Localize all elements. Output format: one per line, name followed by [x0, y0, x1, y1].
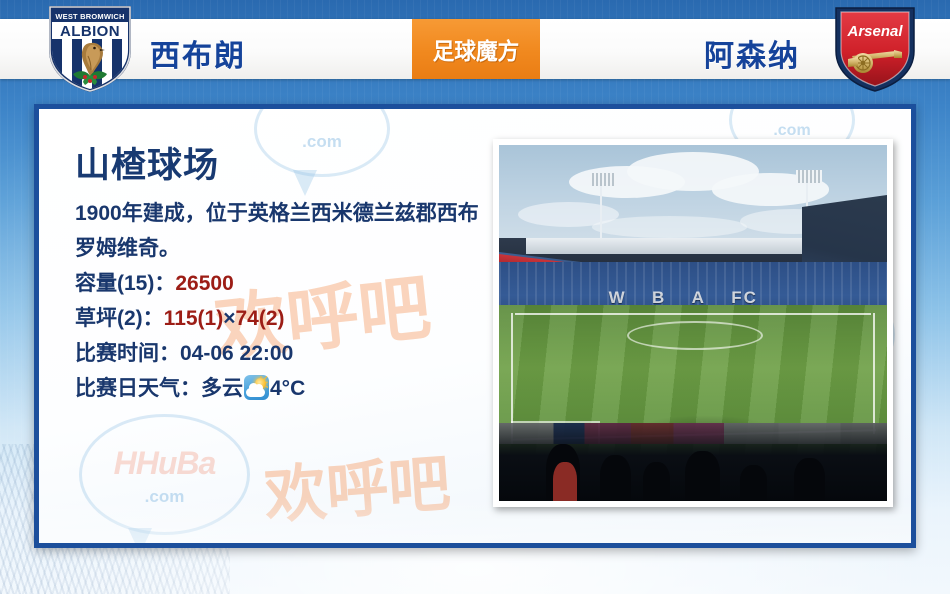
svg-text:WEST BROMWICH: WEST BROMWICH	[55, 12, 124, 21]
away-team-crest-icon: Arsenal	[832, 4, 918, 92]
stadium-info-panel: .com .com Huan HuBa HHuBa .com 欢呼吧 欢呼吧 山…	[34, 104, 916, 548]
spectator-silhouette	[553, 462, 576, 501]
watermark-dotcom-3: .com	[82, 487, 247, 507]
match-info-banner: 西布朗 足球魔方 阿森纳 WEST BROM	[0, 0, 950, 594]
weather-condition: 多云	[201, 377, 243, 400]
site-logo-text: 足球魔方	[433, 32, 519, 66]
photo-stand-roof	[526, 238, 821, 254]
match-time-value: 04-06 22:00	[180, 342, 293, 365]
home-team-name: 西布朗	[150, 31, 246, 75]
stadium-title: 山楂球场	[75, 147, 495, 186]
capacity-value: 26500	[175, 272, 233, 295]
capacity-line: 容量(15)：26500	[75, 266, 495, 301]
home-team-crest-icon: WEST BROMWICH ALBION	[47, 4, 133, 92]
arsenal-wordmark: Arsenal	[846, 23, 903, 40]
stadium-photo-frame: W B A FC	[493, 139, 893, 507]
match-header-bar: 西布朗 足球魔方 阿森纳	[0, 19, 950, 79]
weather-temperature: 4°C	[270, 377, 305, 400]
spectator-silhouette	[600, 455, 631, 501]
watermark-hhuba: HHuBa	[82, 445, 247, 482]
stadium-info-column: 山楂球场 1900年建成，位于英格兰西米德兰兹郡西布罗姆维奇。 容量(15)：2…	[75, 147, 495, 406]
site-logo[interactable]: 足球魔方	[412, 19, 540, 79]
spectator-silhouette	[685, 451, 720, 501]
pitch-separator: ×	[223, 307, 235, 330]
spectator-silhouette	[740, 465, 767, 501]
floodlight-left-head	[590, 173, 616, 186]
watermark-cloud-bottomleft: HHuBa .com	[79, 414, 250, 535]
partly-cloudy-icon	[244, 375, 269, 400]
pitch-label: 草坪(2)：	[75, 307, 164, 330]
weather-label: 比赛日天气：	[75, 377, 201, 400]
spectator-silhouette	[794, 458, 825, 501]
floodlight-right-head	[796, 170, 822, 183]
watermark-cn-bottom: 欢呼吧	[261, 433, 453, 536]
pitch-width: 74(2)	[235, 307, 284, 330]
watermark-dotcom-2: .com	[732, 122, 852, 140]
stadium-photo: W B A FC	[499, 145, 887, 501]
stadium-description: 1900年建成，位于英格兰西米德兰兹郡西布罗姆维奇。	[75, 196, 490, 266]
weather-line: 比赛日天气：多云 4°C	[75, 371, 495, 406]
photo-centre-circle	[627, 321, 763, 350]
spectator-silhouette	[643, 462, 670, 501]
svg-text:ALBION: ALBION	[60, 23, 120, 40]
pitch-length: 115(1)	[164, 307, 224, 330]
match-time-label: 比赛时间：	[75, 342, 180, 365]
match-time-line: 比赛时间：04-06 22:00	[75, 336, 495, 371]
pitch-line: 草坪(2)：115(1)×74(2)	[75, 301, 495, 336]
away-team-name: 阿森纳	[704, 31, 800, 75]
capacity-label: 容量(15)：	[75, 272, 175, 295]
